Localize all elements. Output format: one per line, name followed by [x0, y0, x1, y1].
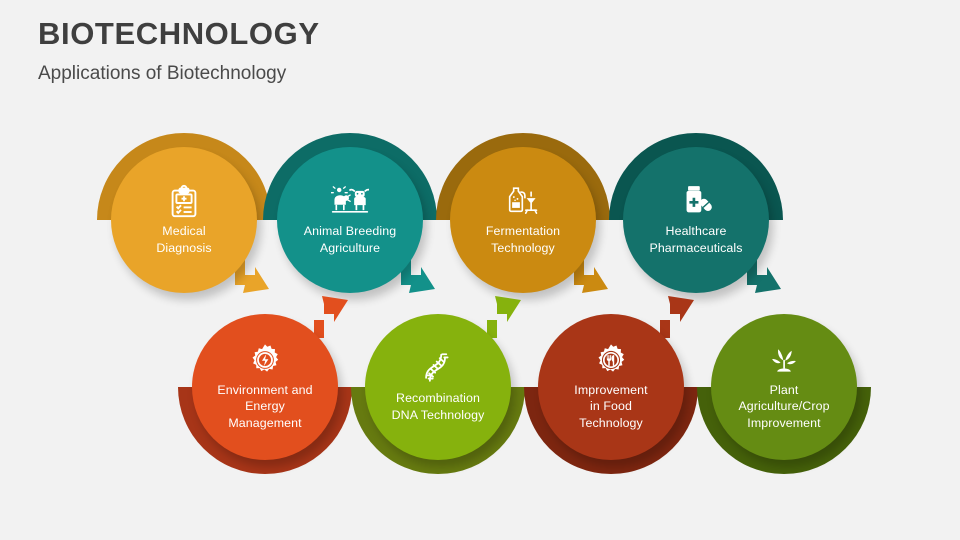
process-node-healthcare-pharmaceuticals[interactable]: Healthcare Pharmaceuticals — [609, 133, 783, 307]
node-disc[interactable]: Plant Agriculture/Crop Improvement — [711, 314, 857, 460]
node-disc[interactable]: Recombination DNA Technology — [365, 314, 511, 460]
process-node-improvement-in-food-technology[interactable]: Improvement in Food Technology — [524, 300, 698, 474]
process-node-medical-diagnosis[interactable]: Medical Diagnosis — [97, 133, 271, 307]
process-node-animal-breeding-agriculture[interactable]: Animal Breeding Agriculture — [263, 133, 437, 307]
sprout-icon — [768, 343, 800, 377]
node-label: Medical Diagnosis — [156, 223, 211, 256]
node-label: Animal Breeding Agriculture — [304, 223, 396, 256]
node-disc[interactable]: Improvement in Food Technology — [538, 314, 684, 460]
node-disc[interactable]: Fermentation Technology — [450, 147, 596, 293]
process-node-recombination-dna-technology[interactable]: Recombination DNA Technology — [351, 300, 525, 474]
dna-helix-icon — [421, 351, 455, 385]
node-disc[interactable]: Medical Diagnosis — [111, 147, 257, 293]
process-node-environment-energy-management[interactable]: Environment and Energy Management — [178, 300, 352, 474]
process-node-plant-agriculture-crop-improvement[interactable]: Plant Agriculture/Crop Improvement — [697, 300, 871, 474]
livestock-icon — [331, 184, 369, 218]
node-label: Fermentation Technology — [486, 223, 560, 256]
node-label: Recombination DNA Technology — [392, 390, 485, 423]
node-disc[interactable]: Healthcare Pharmaceuticals — [623, 147, 769, 293]
gear-food-icon — [593, 343, 629, 377]
process-node-fermentation-technology[interactable]: Fermentation Technology — [436, 133, 610, 307]
node-label: Improvement in Food Technology — [574, 382, 647, 432]
node-label: Plant Agriculture/Crop Improvement — [738, 382, 829, 432]
node-disc[interactable]: Environment and Energy Management — [192, 314, 338, 460]
node-label: Healthcare Pharmaceuticals — [649, 223, 742, 256]
clipboard-medical-icon — [169, 184, 199, 218]
medicine-bottle-icon — [679, 184, 713, 218]
node-disc[interactable]: Animal Breeding Agriculture — [277, 147, 423, 293]
gear-energy-icon — [247, 343, 283, 377]
node-label: Environment and Energy Management — [217, 382, 312, 432]
fermenter-icon — [504, 184, 542, 218]
process-diagram: Medical Diagnosis Animal Breeding Agricu… — [0, 0, 960, 540]
